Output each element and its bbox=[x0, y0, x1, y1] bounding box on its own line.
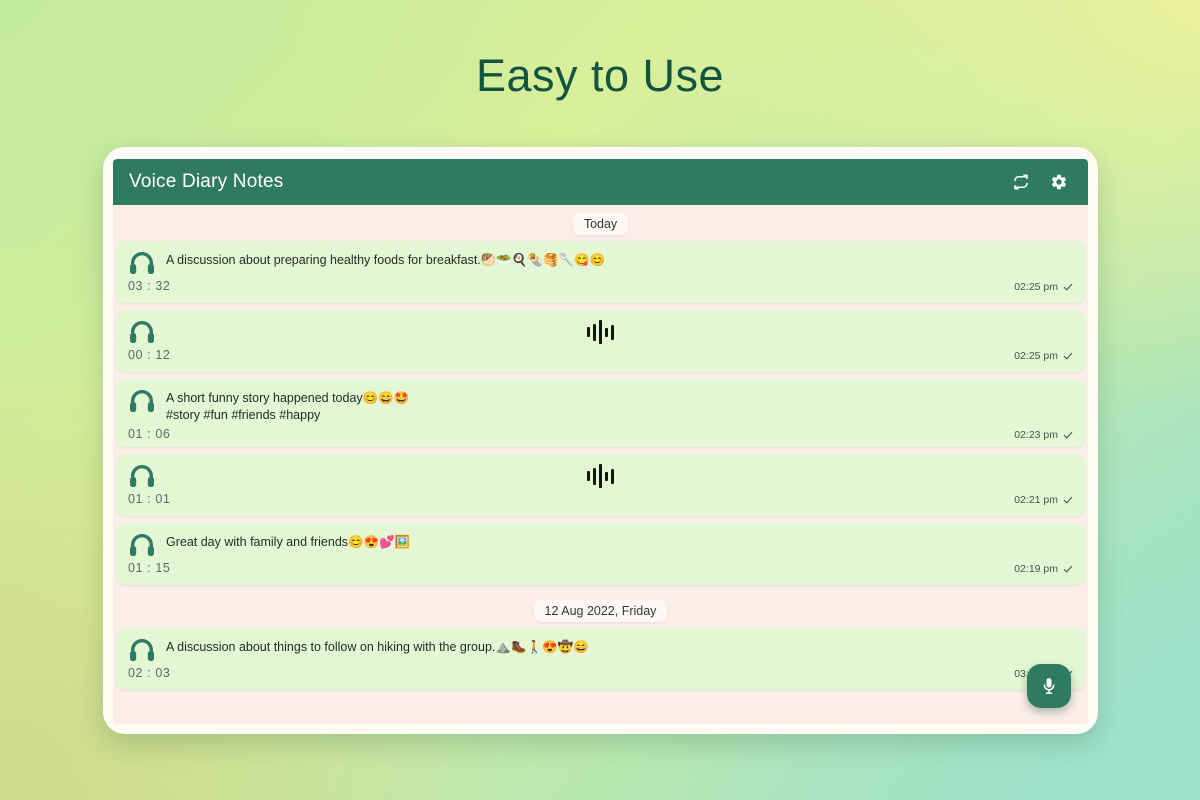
headphone-icon bbox=[128, 533, 156, 557]
note-time: 02:21 pm bbox=[1014, 494, 1058, 506]
note-text: A short funny story happened today😊😄🤩#st… bbox=[166, 388, 1073, 423]
mic-icon bbox=[1039, 676, 1059, 696]
headphone-icon bbox=[128, 320, 156, 344]
app-window: Voice Diary Notes bbox=[103, 147, 1098, 734]
check-icon bbox=[1063, 351, 1073, 361]
page-title: Easy to Use bbox=[0, 50, 1200, 102]
check-icon bbox=[1063, 430, 1073, 440]
note-bottom-row: 01 : 15 02:19 pm bbox=[128, 561, 1073, 575]
note-duration: 03 : 32 bbox=[128, 279, 170, 293]
headphone-icon bbox=[128, 638, 156, 662]
date-chip: Today bbox=[573, 213, 628, 235]
check-icon bbox=[1063, 564, 1073, 574]
note-top-row bbox=[128, 319, 1073, 344]
gear-icon[interactable] bbox=[1048, 171, 1070, 193]
check-icon bbox=[1063, 282, 1073, 292]
note-time: 02:25 pm bbox=[1014, 281, 1058, 293]
note-top-row: A discussion about things to follow on h… bbox=[128, 637, 1073, 662]
app-title: Voice Diary Notes bbox=[129, 171, 1010, 193]
note-top-row: A discussion about preparing healthy foo… bbox=[128, 250, 1073, 275]
note-bottom-row: 03 : 32 02:25 pm bbox=[128, 279, 1073, 293]
note-bottom-row: 02 : 03 03:44 pm bbox=[128, 666, 1073, 680]
note-top-row: A short funny story happened today😊😄🤩#st… bbox=[128, 388, 1073, 423]
note-meta: 02:21 pm bbox=[1014, 494, 1073, 506]
note-duration: 02 : 03 bbox=[128, 666, 170, 680]
note-text-main: A discussion about things to follow on h… bbox=[166, 640, 495, 654]
headphone-icon bbox=[128, 464, 156, 488]
note-bottom-row: 01 : 01 02:21 pm bbox=[128, 492, 1073, 506]
note-item[interactable]: 00 : 12 02:25 pm bbox=[116, 310, 1085, 372]
waveform-icon bbox=[128, 463, 1073, 489]
note-meta: 02:19 pm bbox=[1014, 563, 1073, 575]
note-text: A discussion about preparing healthy foo… bbox=[166, 250, 1073, 269]
app-screen: Voice Diary Notes bbox=[113, 159, 1088, 724]
note-meta: 02:23 pm bbox=[1014, 429, 1073, 441]
note-item[interactable]: A discussion about preparing healthy foo… bbox=[116, 241, 1085, 303]
notes-list[interactable]: Today A discussion about preparing healt… bbox=[113, 205, 1088, 724]
note-meta: 02:25 pm bbox=[1014, 350, 1073, 362]
sync-icon[interactable] bbox=[1010, 171, 1032, 193]
waveform-icon bbox=[128, 319, 1073, 345]
note-emojis: ⛰️🥾🚶😍🤠😄 bbox=[495, 640, 588, 654]
note-duration: 00 : 12 bbox=[128, 348, 170, 362]
date-separator: 12 Aug 2022, Friday bbox=[115, 592, 1086, 628]
note-meta: 02:25 pm bbox=[1014, 281, 1073, 293]
note-bottom-row: 00 : 12 02:25 pm bbox=[128, 348, 1073, 362]
note-item[interactable]: A discussion about things to follow on h… bbox=[116, 628, 1085, 690]
check-icon bbox=[1063, 495, 1073, 505]
note-time: 02:23 pm bbox=[1014, 429, 1058, 441]
headphone-icon bbox=[128, 389, 156, 413]
note-item[interactable]: Great day with family and friends😊😍💕🖼️ 0… bbox=[116, 523, 1085, 585]
note-text: Great day with family and friends😊😍💕🖼️ bbox=[166, 532, 1073, 551]
date-separator: Today bbox=[115, 205, 1086, 241]
note-text-main: A short funny story happened today bbox=[166, 391, 363, 405]
note-item[interactable]: A short funny story happened today😊😄🤩#st… bbox=[116, 379, 1085, 447]
app-bar: Voice Diary Notes bbox=[113, 159, 1088, 205]
note-time: 02:19 pm bbox=[1014, 563, 1058, 575]
note-emojis: 🥙🥗🍳🌯🥞🥄😋😊 bbox=[481, 253, 606, 267]
note-emojis: 😊😄🤩 bbox=[363, 391, 410, 405]
note-text-main: Great day with family and friends bbox=[166, 535, 348, 549]
note-top-row bbox=[128, 463, 1073, 488]
note-time: 02:25 pm bbox=[1014, 350, 1058, 362]
note-item[interactable]: 01 : 01 02:21 pm bbox=[116, 454, 1085, 516]
note-text-main: A discussion about preparing healthy foo… bbox=[166, 253, 481, 267]
note-emojis: 😊😍💕🖼️ bbox=[348, 535, 410, 549]
note-duration: 01 : 01 bbox=[128, 492, 170, 506]
headphone-icon bbox=[128, 251, 156, 275]
note-top-row: Great day with family and friends😊😍💕🖼️ bbox=[128, 532, 1073, 557]
note-hashtags: #story #fun #friends #happy bbox=[166, 408, 320, 422]
date-chip: 12 Aug 2022, Friday bbox=[534, 600, 668, 622]
record-fab-button[interactable] bbox=[1027, 664, 1071, 708]
note-text: A discussion about things to follow on h… bbox=[166, 637, 1073, 656]
app-bar-actions bbox=[1010, 171, 1070, 193]
note-duration: 01 : 15 bbox=[128, 561, 170, 575]
note-duration: 01 : 06 bbox=[128, 427, 170, 441]
note-bottom-row: 01 : 06 02:23 pm bbox=[128, 427, 1073, 441]
